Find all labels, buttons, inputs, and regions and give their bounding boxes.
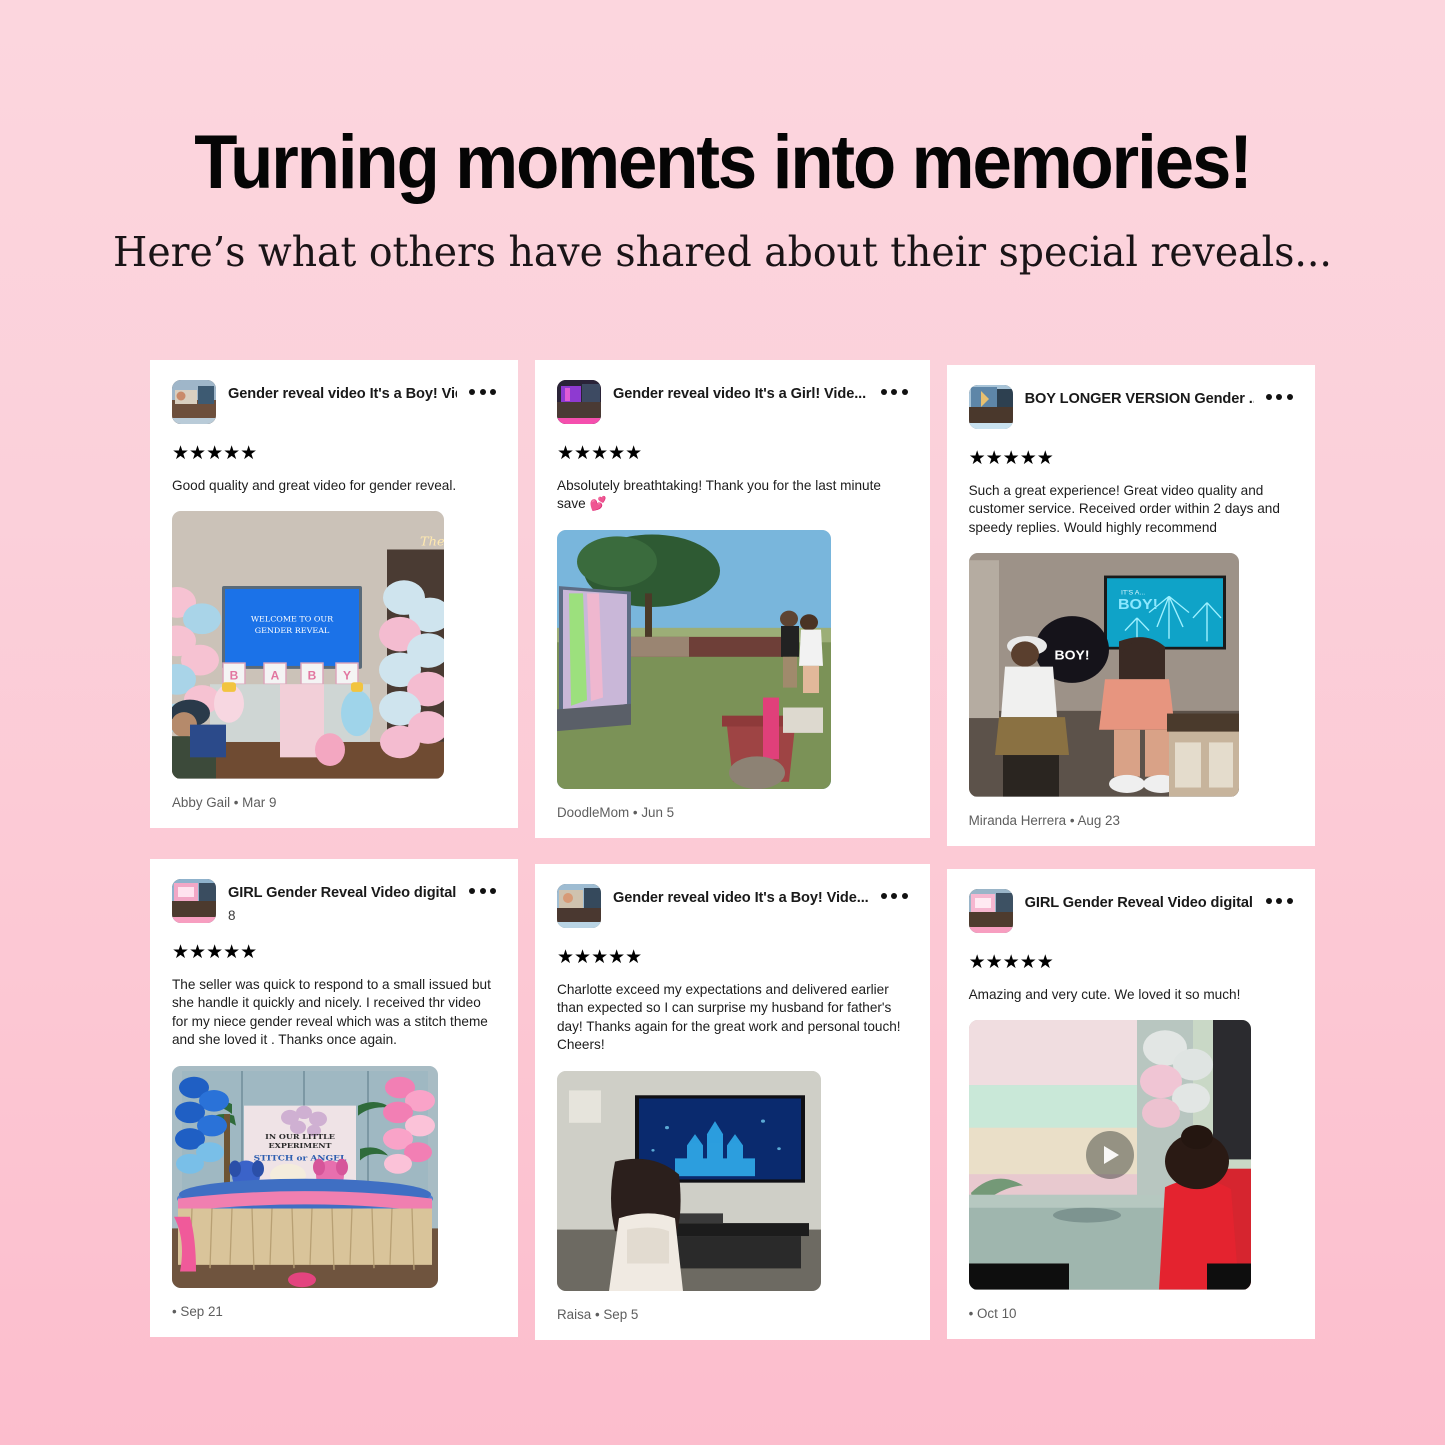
star-rating: ★★★★★ [969,449,1293,468]
svg-text:BOY!: BOY! [1054,649,1089,663]
review-meta: Abby Gail • Mar 9 [172,779,496,828]
review-card-header: BOY LONGER VERSION Gender ... [969,385,1293,429]
review-card[interactable]: Gender reveal video It's a Boy! Vide... … [150,360,518,828]
listing-info: Gender reveal video It's a Boy! Vide... [228,380,457,402]
review-photo[interactable] [557,530,831,789]
play-button[interactable] [1086,1131,1134,1179]
review-meta: • Oct 10 [969,1290,1293,1339]
svg-text:B: B [308,670,317,683]
star-rating: ★★★★★ [172,943,496,962]
page-subtitle: Here’s what others have shared about the… [29,230,1416,275]
review-text: The seller was quick to respond to a sma… [172,976,496,1050]
listing-info: Gender reveal video It's a Boy! Vide... [613,884,869,906]
listing-title[interactable]: Gender reveal video It's a Girl! Vide... [613,386,869,402]
svg-text:IN OUR LITTLE: IN OUR LITTLE [265,1133,335,1141]
svg-text:Y: Y [343,670,351,683]
listing-thumbnail[interactable] [172,879,216,923]
listing-title[interactable]: GIRL Gender Reveal Video digital ... [1025,895,1254,911]
listing-title[interactable]: BOY LONGER VERSION Gender ... [1025,391,1254,407]
review-photo[interactable] [969,1020,1251,1290]
review-text: Good quality and great video for gender … [172,477,496,495]
star-rating: ★★★★★ [172,444,496,463]
listing-thumbnail[interactable] [969,889,1013,933]
review-photo[interactable]: IN OUR LITTLE EXPERIMENT STITCH or ANGEL [172,1066,438,1288]
review-meta: • Sep 21 [172,1288,496,1337]
review-card-header: GIRL Gender Reveal Video digital ... [969,889,1293,933]
svg-text:BOY!: BOY! [1118,597,1158,613]
listing-thumbnail[interactable] [969,385,1013,429]
star-rating: ★★★★★ [557,948,908,967]
page-title: Turning moments into memories! [51,126,1395,200]
listing-info: GIRL Gender Reveal Video digital ... [1025,889,1254,911]
svg-text:GENDER REVEAL: GENDER REVEAL [255,627,330,636]
review-text: Charlotte exceed my expectations and del… [557,981,908,1055]
listing-thumbnail[interactable] [557,380,601,424]
page-header: Turning moments into memories! Here’s wh… [0,0,1445,276]
review-card-header: Gender reveal video It's a Boy! Vide... [557,884,908,928]
svg-text:IT'S A...: IT'S A... [1121,590,1145,597]
listing-thumbnail[interactable] [557,884,601,928]
review-photo[interactable]: The C WELCOME TO OUR GENDER REVEAL BABY [172,511,444,779]
svg-text:WELCOME TO OUR: WELCOME TO OUR [251,615,334,624]
review-text: Such a great experience! Great video qua… [969,482,1293,537]
review-card[interactable]: BOY LONGER VERSION Gender ... ★★★★★ Such… [947,365,1315,846]
review-card[interactable]: Gender reveal video It's a Girl! Vide...… [535,360,930,838]
svg-text:EXPERIMENT: EXPERIMENT [269,1142,332,1150]
review-text: Amazing and very cute. We loved it so mu… [969,986,1293,1004]
listing-info: Gender reveal video It's a Girl! Vide... [613,380,869,402]
svg-text:A: A [271,670,280,683]
listing-info: GIRL Gender Reveal Video digital ... 8 [228,879,457,923]
review-photo[interactable] [557,1071,821,1291]
star-rating: ★★★★★ [557,444,908,463]
kebab-menu-icon[interactable] [469,879,496,894]
listing-thumbnail[interactable] [172,380,216,424]
kebab-menu-icon[interactable] [881,884,908,899]
listing-title[interactable]: Gender reveal video It's a Boy! Vide... [613,890,869,906]
kebab-menu-icon[interactable] [1266,889,1293,904]
star-rating: ★★★★★ [969,953,1293,972]
kebab-menu-icon[interactable] [1266,385,1293,400]
svg-text:B: B [230,670,239,683]
listing-info: BOY LONGER VERSION Gender ... [1025,385,1254,407]
review-photo[interactable]: IT'S A... BOY! BOY! [969,553,1239,797]
review-meta: DoodleMom • Jun 5 [557,789,908,838]
kebab-menu-icon[interactable] [469,380,496,395]
kebab-menu-icon[interactable] [881,380,908,395]
review-card[interactable]: GIRL Gender Reveal Video digital ... 8 ★… [150,859,518,1337]
review-meta: Raisa • Sep 5 [557,1291,908,1340]
review-card-header: Gender reveal video It's a Girl! Vide... [557,380,908,424]
review-card-header: GIRL Gender Reveal Video digital ... 8 [172,879,496,923]
play-triangle-icon [1104,1146,1119,1164]
listing-title[interactable]: GIRL Gender Reveal Video digital ... [228,885,457,901]
listing-title[interactable]: Gender reveal video It's a Boy! Vide... [228,386,457,402]
reviews-grid: Gender reveal video It's a Boy! Vide... … [150,360,1295,1340]
review-card-header: Gender reveal video It's a Boy! Vide... [172,380,496,424]
svg-text:The C: The C [420,535,444,550]
review-text: Absolutely breathtaking! Thank you for t… [557,477,908,514]
review-card[interactable]: Gender reveal video It's a Boy! Vide... … [535,864,930,1340]
review-card[interactable]: GIRL Gender Reveal Video digital ... ★★★… [947,869,1315,1339]
review-meta: Miranda Herrera • Aug 23 [969,797,1293,846]
listing-subtitle: 8 [228,908,457,923]
